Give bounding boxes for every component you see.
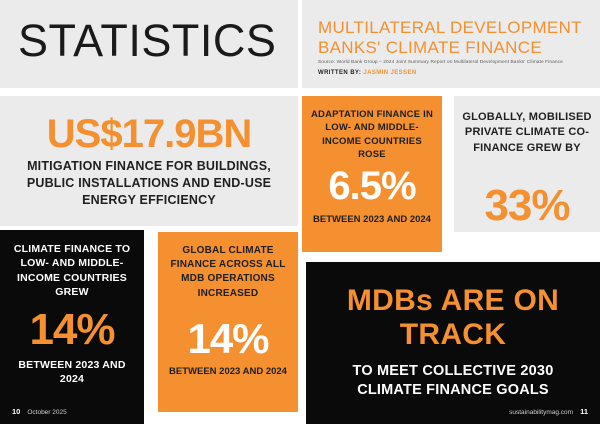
headline-stat-panel: US$17.9BN MITIGATION FINANCE FOR BUILDIN…	[0, 96, 298, 226]
on-track-subtext: TO MEET COLLECTIVE 2030 CLIMATE FINANCE …	[320, 362, 586, 400]
lmic-stat-heading: CLIMATE FINANCE TO LOW- AND MIDDLE-INCOM…	[8, 242, 136, 300]
source-credit: Source: World Bank Group – 2024 Joint Su…	[318, 60, 594, 66]
adaptation-heading: ADAPTATION FINANCE IN LOW- AND MIDDLE-IN…	[310, 108, 434, 161]
left-page-number: 10	[12, 407, 20, 416]
right-footer: sustainabilitymag.com 11	[509, 407, 588, 416]
lmic-stat-panel: CLIMATE FINANCE TO LOW- AND MIDDLE-INCOM…	[0, 230, 144, 424]
adaptation-stat-panel: ADAPTATION FINANCE IN LOW- AND MIDDLE-IN…	[302, 96, 442, 252]
private-cofinance-heading: GLOBALLY, MOBILISED PRIVATE CLIMATE CO-F…	[462, 110, 592, 156]
mdb-operations-period: BETWEEN 2023 AND 2024	[164, 366, 292, 379]
adaptation-period: BETWEEN 2023 AND 2024	[308, 214, 436, 227]
private-cofinance-stat-panel: GLOBALLY, MOBILISED PRIVATE CLIMATE CO-F…	[454, 96, 600, 232]
issue-date: October 2025	[27, 409, 66, 416]
byline: WRITTEN BY: JASMIN JESSEN	[318, 70, 417, 76]
mdb-operations-heading: GLOBAL CLIMATE FINANCE ACROSS ALL MDB OP…	[168, 244, 288, 301]
byline-label: WRITTEN BY:	[318, 70, 361, 76]
article-title: MULTILATERAL DEVELOPMENT BANKS' CLIMATE …	[318, 18, 590, 57]
private-cofinance-value: 33%	[454, 184, 600, 228]
lmic-stat-period: BETWEEN 2023 AND 2024	[6, 358, 138, 386]
left-footer: 10 October 2025	[12, 407, 67, 416]
lmic-stat-value: 14%	[0, 308, 144, 352]
on-track-headline: MDBs ARE ON TRACK	[320, 284, 586, 351]
section-title: STATISTICS	[18, 18, 276, 63]
right-header-band: MULTILATERAL DEVELOPMENT BANKS' CLIMATE …	[302, 0, 600, 88]
right-page-number: 11	[580, 407, 588, 416]
on-track-callout-panel: MDBs ARE ON TRACK TO MEET COLLECTIVE 203…	[306, 262, 600, 424]
adaptation-value: 6.5%	[302, 166, 442, 206]
mdb-operations-value: 14%	[158, 318, 298, 360]
headline-stat-description: MITIGATION FINANCE FOR BUILDINGS, PUBLIC…	[14, 158, 284, 209]
byline-author: JASMIN JESSEN	[363, 70, 416, 76]
headline-stat-value: US$17.9BN	[0, 114, 298, 154]
website-url: sustainabilitymag.com	[509, 409, 573, 416]
left-header-band: STATISTICS	[0, 0, 298, 88]
mdb-operations-stat-panel: GLOBAL CLIMATE FINANCE ACROSS ALL MDB OP…	[158, 232, 298, 412]
